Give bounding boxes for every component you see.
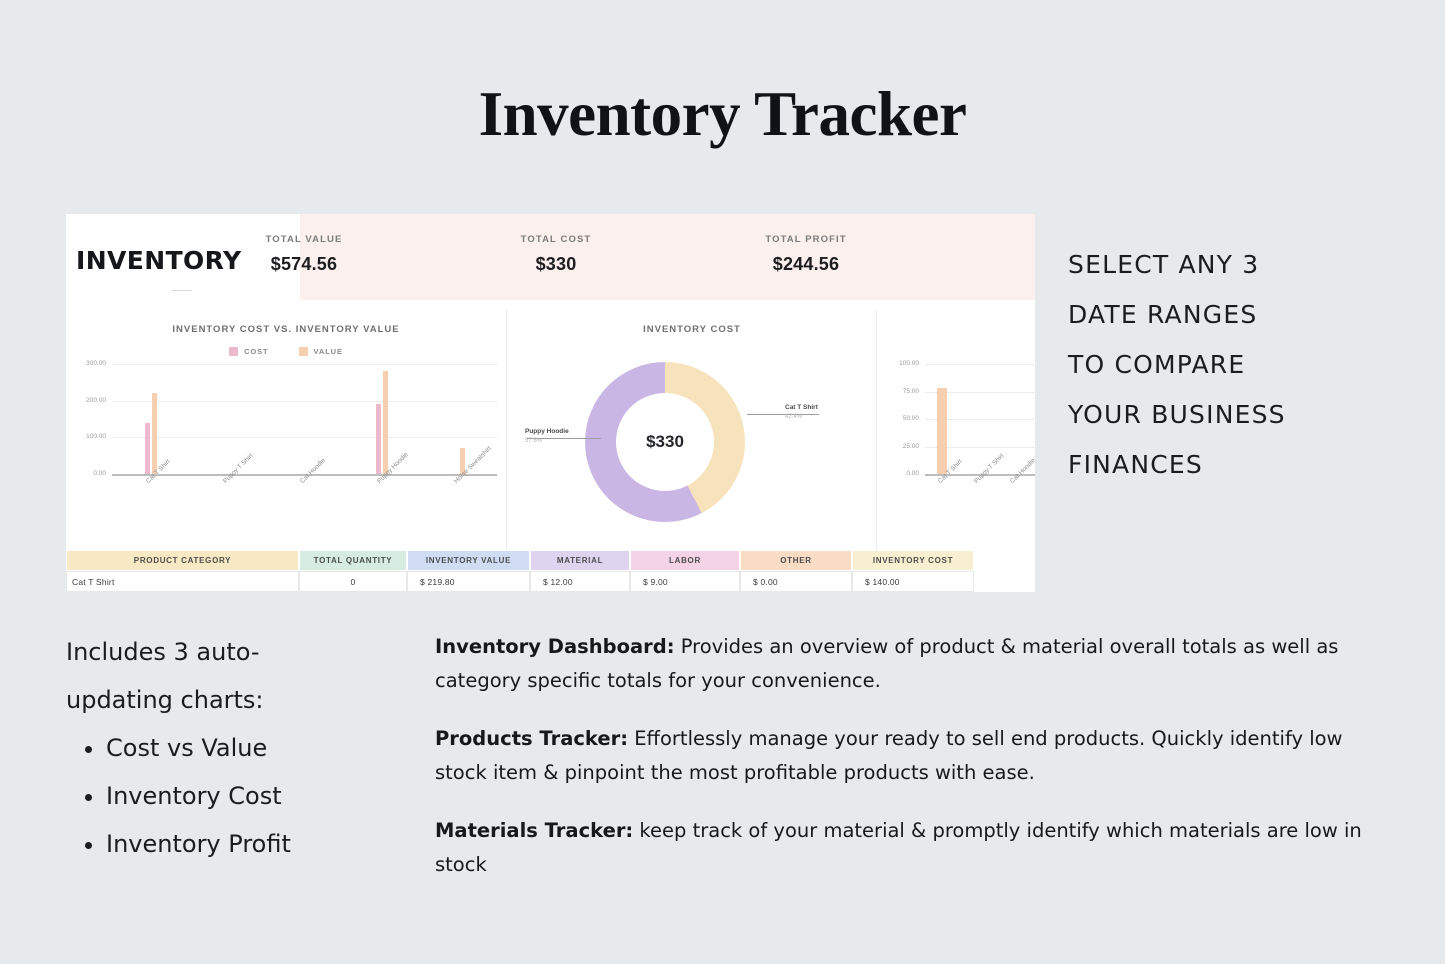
list-item: Inventory Profit: [106, 820, 416, 868]
side-note-line: YOUR BUSINESS: [1068, 390, 1418, 440]
legend-item-cost: COST: [229, 347, 268, 356]
feature-term: Materials Tracker:: [435, 819, 633, 842]
donut-pct-puppy-hoodie: 57.6%: [525, 438, 542, 444]
dashboard-preview: INVENTORY TOTAL VALUE $574.56 TOTAL COST…: [66, 214, 1035, 592]
chart-y-tick: 75.00: [885, 388, 919, 395]
kpi-label: TOTAL COST: [436, 234, 676, 245]
side-note: SELECT ANY 3 DATE RANGES TO COMPARE YOUR…: [1068, 240, 1418, 490]
charts-strip: INVENTORY COST VS. INVENTORY VALUE COST …: [66, 310, 1035, 550]
leader-line-right: [747, 414, 819, 415]
logo-divider: [172, 290, 192, 291]
chart-bar: [383, 371, 388, 474]
table-cell: Cat T Shirt: [66, 571, 299, 592]
charts-note-heading-line1: Includes 3 auto-: [66, 628, 416, 676]
chart-y-tick: 0.00: [885, 470, 919, 477]
table-header-cell: TOTAL QUANTITY: [299, 550, 407, 571]
page-title: Inventory Tracker: [0, 78, 1445, 151]
table-header-cell: LABOR: [630, 550, 740, 571]
chart-gridline: [112, 437, 497, 438]
charts-note: Includes 3 auto- updating charts: Cost v…: [66, 628, 416, 868]
chart-title: INVENTORY COST VS. INVENTORY VALUE: [66, 324, 506, 335]
donut-label-puppy-hoodie: Puppy Hoodie: [525, 428, 569, 435]
legend-label: COST: [244, 347, 268, 356]
donut-pct-cat-t-shirt: 42.4%: [785, 414, 802, 420]
chart-y-tick: 300.00: [72, 360, 106, 367]
chart-gridline: [925, 364, 1035, 365]
kpi-total-cost: TOTAL COST $330: [436, 234, 676, 275]
donut-center-value: $330: [616, 393, 714, 491]
side-note-line: TO COMPARE: [1068, 340, 1418, 390]
chart-gridline: [112, 401, 497, 402]
feature-products-tracker: Products Tracker: Effortlessly manage yo…: [435, 722, 1390, 790]
chart-y-tick: 25.00: [885, 443, 919, 450]
chart-y-tick: 100.00: [72, 433, 106, 440]
kpi-label: TOTAL VALUE: [184, 234, 424, 245]
kpi-value: $574.56: [184, 254, 424, 275]
chart-plot-area: 0.0025.0050.0075.00100.00: [925, 364, 1035, 474]
table-cell: $ 0.00: [740, 571, 852, 592]
table-row: Cat T Shirt0$ 219.80$ 12.00$ 9.00$ 0.00$…: [66, 571, 1035, 592]
table-cell: $ 12.00: [530, 571, 630, 592]
chart-bar: [145, 423, 150, 474]
side-note-line: DATE RANGES: [1068, 290, 1418, 340]
chart-cost-vs-value: INVENTORY COST VS. INVENTORY VALUE COST …: [66, 310, 506, 550]
table-cell: $ 219.80: [407, 571, 530, 592]
table-header-row: PRODUCT CATEGORYTOTAL QUANTITYINVENTORY …: [66, 550, 1035, 571]
chart-legend: COST VALUE: [66, 347, 506, 356]
charts-note-list: Cost vs Value Inventory Cost Inventory P…: [66, 724, 416, 868]
legend-label: VALUE: [314, 347, 343, 356]
legend-swatch: [299, 347, 308, 356]
kpi-value: $244.56: [686, 254, 926, 275]
chart-y-tick: 0.00: [72, 470, 106, 477]
list-item: Cost vs Value: [106, 724, 416, 772]
feature-inventory-dashboard: Inventory Dashboard: Provides an overvie…: [435, 630, 1390, 698]
chart-bar: [937, 388, 947, 474]
feature-term: Inventory Dashboard:: [435, 635, 675, 658]
list-item: Inventory Cost: [106, 772, 416, 820]
table-header-cell: MATERIAL: [530, 550, 630, 571]
chart-plot-area: 0.00100.00200.00300.00: [112, 364, 497, 474]
kpi-total-value: TOTAL VALUE $574.56: [184, 234, 424, 275]
chart-gridline: [112, 364, 497, 365]
table-cell: $ 140.00: [852, 571, 974, 592]
table-cell: 0: [299, 571, 407, 592]
feature-term: Products Tracker:: [435, 727, 628, 750]
chart-inventory-profit: 0.0025.0050.0075.00100.00 Cat T ShirtPup…: [876, 310, 1035, 550]
kpi-label: TOTAL PROFIT: [686, 234, 926, 245]
kpi-value: $330: [436, 254, 676, 275]
table-cell: $ 9.00: [630, 571, 740, 592]
legend-item-value: VALUE: [299, 347, 343, 356]
chart-inventory-cost: INVENTORY COST $330 Puppy Hoodie 57.6% C…: [506, 310, 877, 550]
chart-y-tick: 50.00: [885, 415, 919, 422]
side-note-line: SELECT ANY 3: [1068, 240, 1418, 290]
table-header-cell: INVENTORY VALUE: [407, 550, 530, 571]
feature-materials-tracker: Materials Tracker: keep track of your ma…: [435, 814, 1390, 882]
legend-swatch: [229, 347, 238, 356]
chart-bar: [376, 404, 381, 474]
kpi-total-profit: TOTAL PROFIT $244.56: [686, 234, 926, 275]
table-header-cell: INVENTORY COST: [852, 550, 974, 571]
table-header-cell: OTHER: [740, 550, 852, 571]
chart-y-tick: 100.00: [885, 360, 919, 367]
donut-chart: $330: [585, 362, 745, 522]
chart-bar: [152, 393, 157, 474]
table-header-cell: PRODUCT CATEGORY: [66, 550, 299, 571]
feature-descriptions: Inventory Dashboard: Provides an overvie…: [435, 630, 1390, 906]
charts-note-heading-line2: updating charts:: [66, 676, 416, 724]
chart-title: INVENTORY COST: [507, 324, 877, 335]
chart-y-tick: 200.00: [72, 397, 106, 404]
donut-label-cat-t-shirt: Cat T Shirt: [785, 404, 818, 411]
category-table: PRODUCT CATEGORYTOTAL QUANTITYINVENTORY …: [66, 550, 1035, 592]
side-note-line: FINANCES: [1068, 440, 1418, 490]
